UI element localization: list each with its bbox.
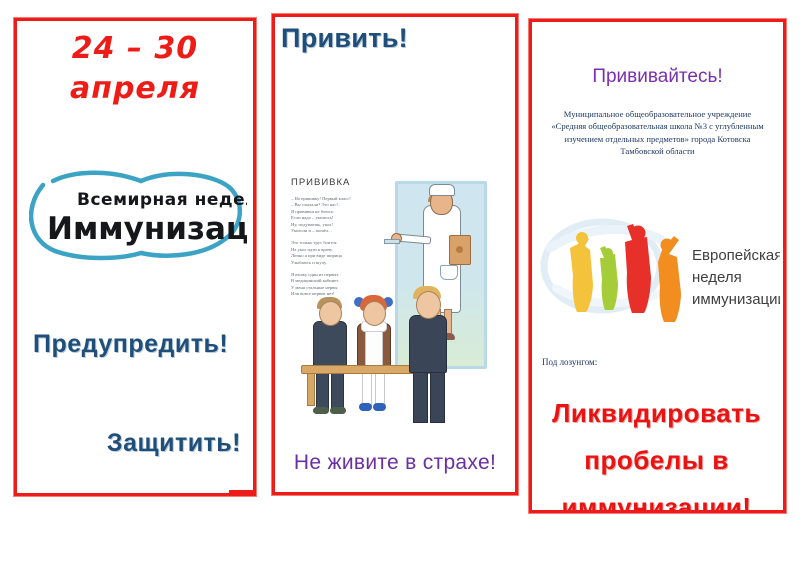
boy1-head-shape — [319, 301, 342, 326]
vaccinate-title: Привить! — [281, 23, 408, 54]
boy1-body-shape — [313, 321, 347, 371]
euro-logo-line2: неделя — [692, 269, 742, 286]
date-range: 24 – 30 апреля — [17, 29, 253, 109]
prevent-text: Предупредить! — [33, 316, 228, 372]
poem-block: ПРИВИВКА – На прививку! Первый класс! – … — [291, 177, 399, 304]
bench-leg-left-shape — [307, 372, 315, 406]
nurse-pocket-shape — [440, 265, 458, 280]
boy2-head-shape — [416, 291, 441, 319]
poem-title: ПРИВИВКА — [291, 177, 399, 188]
vaccination-poster-illustration: ПРИВИВКА – На прививку! Первый класс! – … — [283, 169, 518, 441]
brochure: 24 – 30 апреля Всемирная неделя Иммуниза… — [0, 0, 800, 565]
world-immunization-week-logo: Всемирная неделя Иммунизации — [29, 163, 247, 265]
poem-stanza-2: Это только трус боится На укол идти к вр… — [291, 240, 399, 266]
boy1-shoe-right-shape — [330, 407, 346, 414]
boy1-shoe-left-shape — [313, 407, 329, 414]
poem-stanza-3: Я вхожу один из первых В медицинский каб… — [291, 272, 399, 298]
boy2-leg-left-shape — [413, 369, 428, 423]
protect-text: Защитить! — [107, 429, 241, 458]
panel-right: Прививайтесь! Муниципальное общеобразова… — [529, 19, 786, 513]
euro-logo-line1: Европейская — [692, 247, 780, 264]
panel-left: 24 – 30 апреля Всемирная неделя Иммуниза… — [14, 18, 256, 496]
poem-stanza-1: – На прививку! Первый класс! – Вы слыхал… — [291, 196, 399, 234]
girl-sock-left-shape — [362, 369, 372, 407]
boy2-leg-right-shape — [430, 369, 445, 423]
slogan-text: Ликвидировать пробелы в иммунизации! — [532, 390, 781, 513]
girl-head-shape — [363, 301, 386, 326]
syringe-shape — [384, 239, 400, 244]
european-immunization-week-logo: Европейская неделя иммунизации — [540, 214, 780, 324]
nurse-folder-dot-shape — [456, 246, 463, 253]
panel-middle: Привить! ПРИВИВКА – На прививку! Первый … — [272, 14, 518, 495]
slogan-label: Под лозунгом: — [542, 357, 597, 367]
school-name: Муниципальное общеобразовательное учрежд… — [546, 108, 769, 158]
girl-sock-right-shape — [375, 369, 385, 407]
boy2-body-shape — [409, 315, 447, 373]
girl-shoe-left-shape — [359, 403, 372, 411]
logo-line1-text: Всемирная неделя — [77, 190, 247, 210]
get-vaccinated-title: Прививайтесь! — [532, 66, 783, 88]
panel-left-rule — [229, 490, 256, 493]
nurse-cap-shape — [429, 184, 455, 196]
do-not-fear-caption: Не живите в страхе! — [275, 451, 515, 475]
euro-logo-line3: иммунизации — [692, 291, 780, 308]
girl-shoe-right-shape — [373, 403, 386, 411]
logo-line2-text: Иммунизации — [47, 211, 247, 247]
